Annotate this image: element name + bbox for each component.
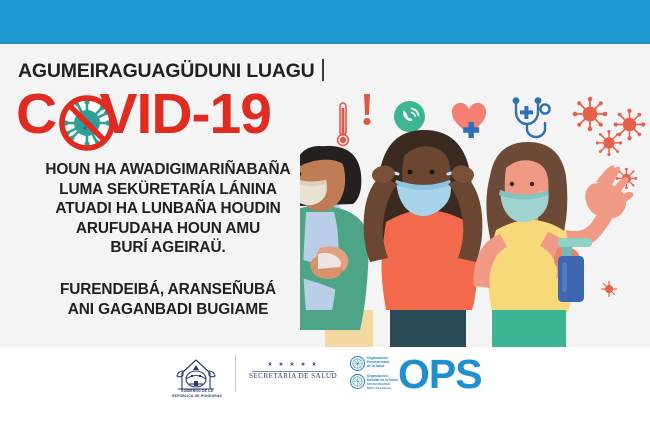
body-text-block-secondary: FURENDEIBÁ, ARANSEÑUBÁ ANI GAGANBADI BUG…: [8, 280, 328, 320]
paho-line: de la Salud: [367, 365, 389, 369]
body-line: FURENDEIBÁ, ARANSEÑUBÁ: [8, 280, 328, 300]
no-virus-icon: [56, 92, 118, 154]
body-text-block: HOUN HA AWADIGIMARIÑABAÑA LUMA SEKÜRETAR…: [8, 160, 328, 258]
who-seal-text: Organización Mundial de la Salud OFICINA…: [367, 375, 398, 391]
ops-wordmark: OPS: [398, 352, 482, 396]
spray-bottle-icon: [558, 238, 592, 302]
virus-icon: [602, 282, 617, 297]
who-line: OFICINA REGIONAL PARA LAS Américas: [367, 383, 398, 391]
body-line: BURÍ AGEIRAÜ.: [8, 238, 328, 258]
phone-call-icon: [394, 101, 425, 132]
body-line: LUMA SEKÜRETARÍA LÁNINA: [8, 180, 328, 200]
secretaria-label: SECRETARÍA DE SALUD: [248, 372, 338, 380]
three-people-prevention-illustration: [300, 130, 650, 347]
text-caret: [322, 59, 324, 81]
body-line: HOUN HA AWADIGIMARIÑABAÑA: [8, 160, 328, 180]
plus-icon: [520, 106, 533, 119]
who-seal-icon: [350, 374, 365, 389]
footer-logos: GOBIERNO DE LA REPÚBLICA DE HONDURAS ★ ★…: [0, 347, 650, 432]
covid-suffix: VID-19: [100, 82, 271, 146]
person-putting-on-mask: [364, 130, 483, 347]
body-line: ARUFUDAHA HOUN AMU: [8, 219, 328, 239]
paho-who-seals: Organización Panamericana de la Salud Or…: [350, 356, 398, 392]
virus-icon: [572, 96, 608, 132]
footer-divider: [235, 355, 236, 391]
person-with-spray-bottle: [474, 142, 634, 347]
body-line: ANI GAGANBADI BUGIAME: [8, 300, 328, 320]
secretaria-de-salud-logo: ★ ★ ★ ★ ★ SECRETARÍA DE SALUD: [248, 361, 338, 387]
covid-prevention-poster: AGUMEIRAGUAGÜDUNI LUAGU COVID-19: [0, 0, 650, 432]
top-blue-band: [0, 0, 650, 42]
honduras-seal-caption: GOBIERNO DE LA REPÚBLICA DE HONDURAS: [157, 389, 237, 398]
caption-line: REPÚBLICA DE HONDURAS: [157, 394, 237, 399]
paho-seal-icon: [350, 356, 365, 371]
exclamation-icon: [361, 93, 373, 127]
body-line: ATUADI HA LUNBAÑA HOUDIN: [8, 199, 328, 219]
virus-icon: [596, 130, 622, 156]
page-title: AGUMEIRAGUAGÜDUNI LUAGU: [18, 60, 348, 83]
covid-prefix: C: [16, 82, 56, 146]
paho-seal-text: Organización Panamericana de la Salud: [367, 357, 389, 369]
covid-19-wordmark: COVID-19: [16, 86, 271, 143]
stars-decoration: ★ ★ ★ ★ ★: [248, 361, 338, 369]
person-washing-hands: [300, 146, 373, 347]
